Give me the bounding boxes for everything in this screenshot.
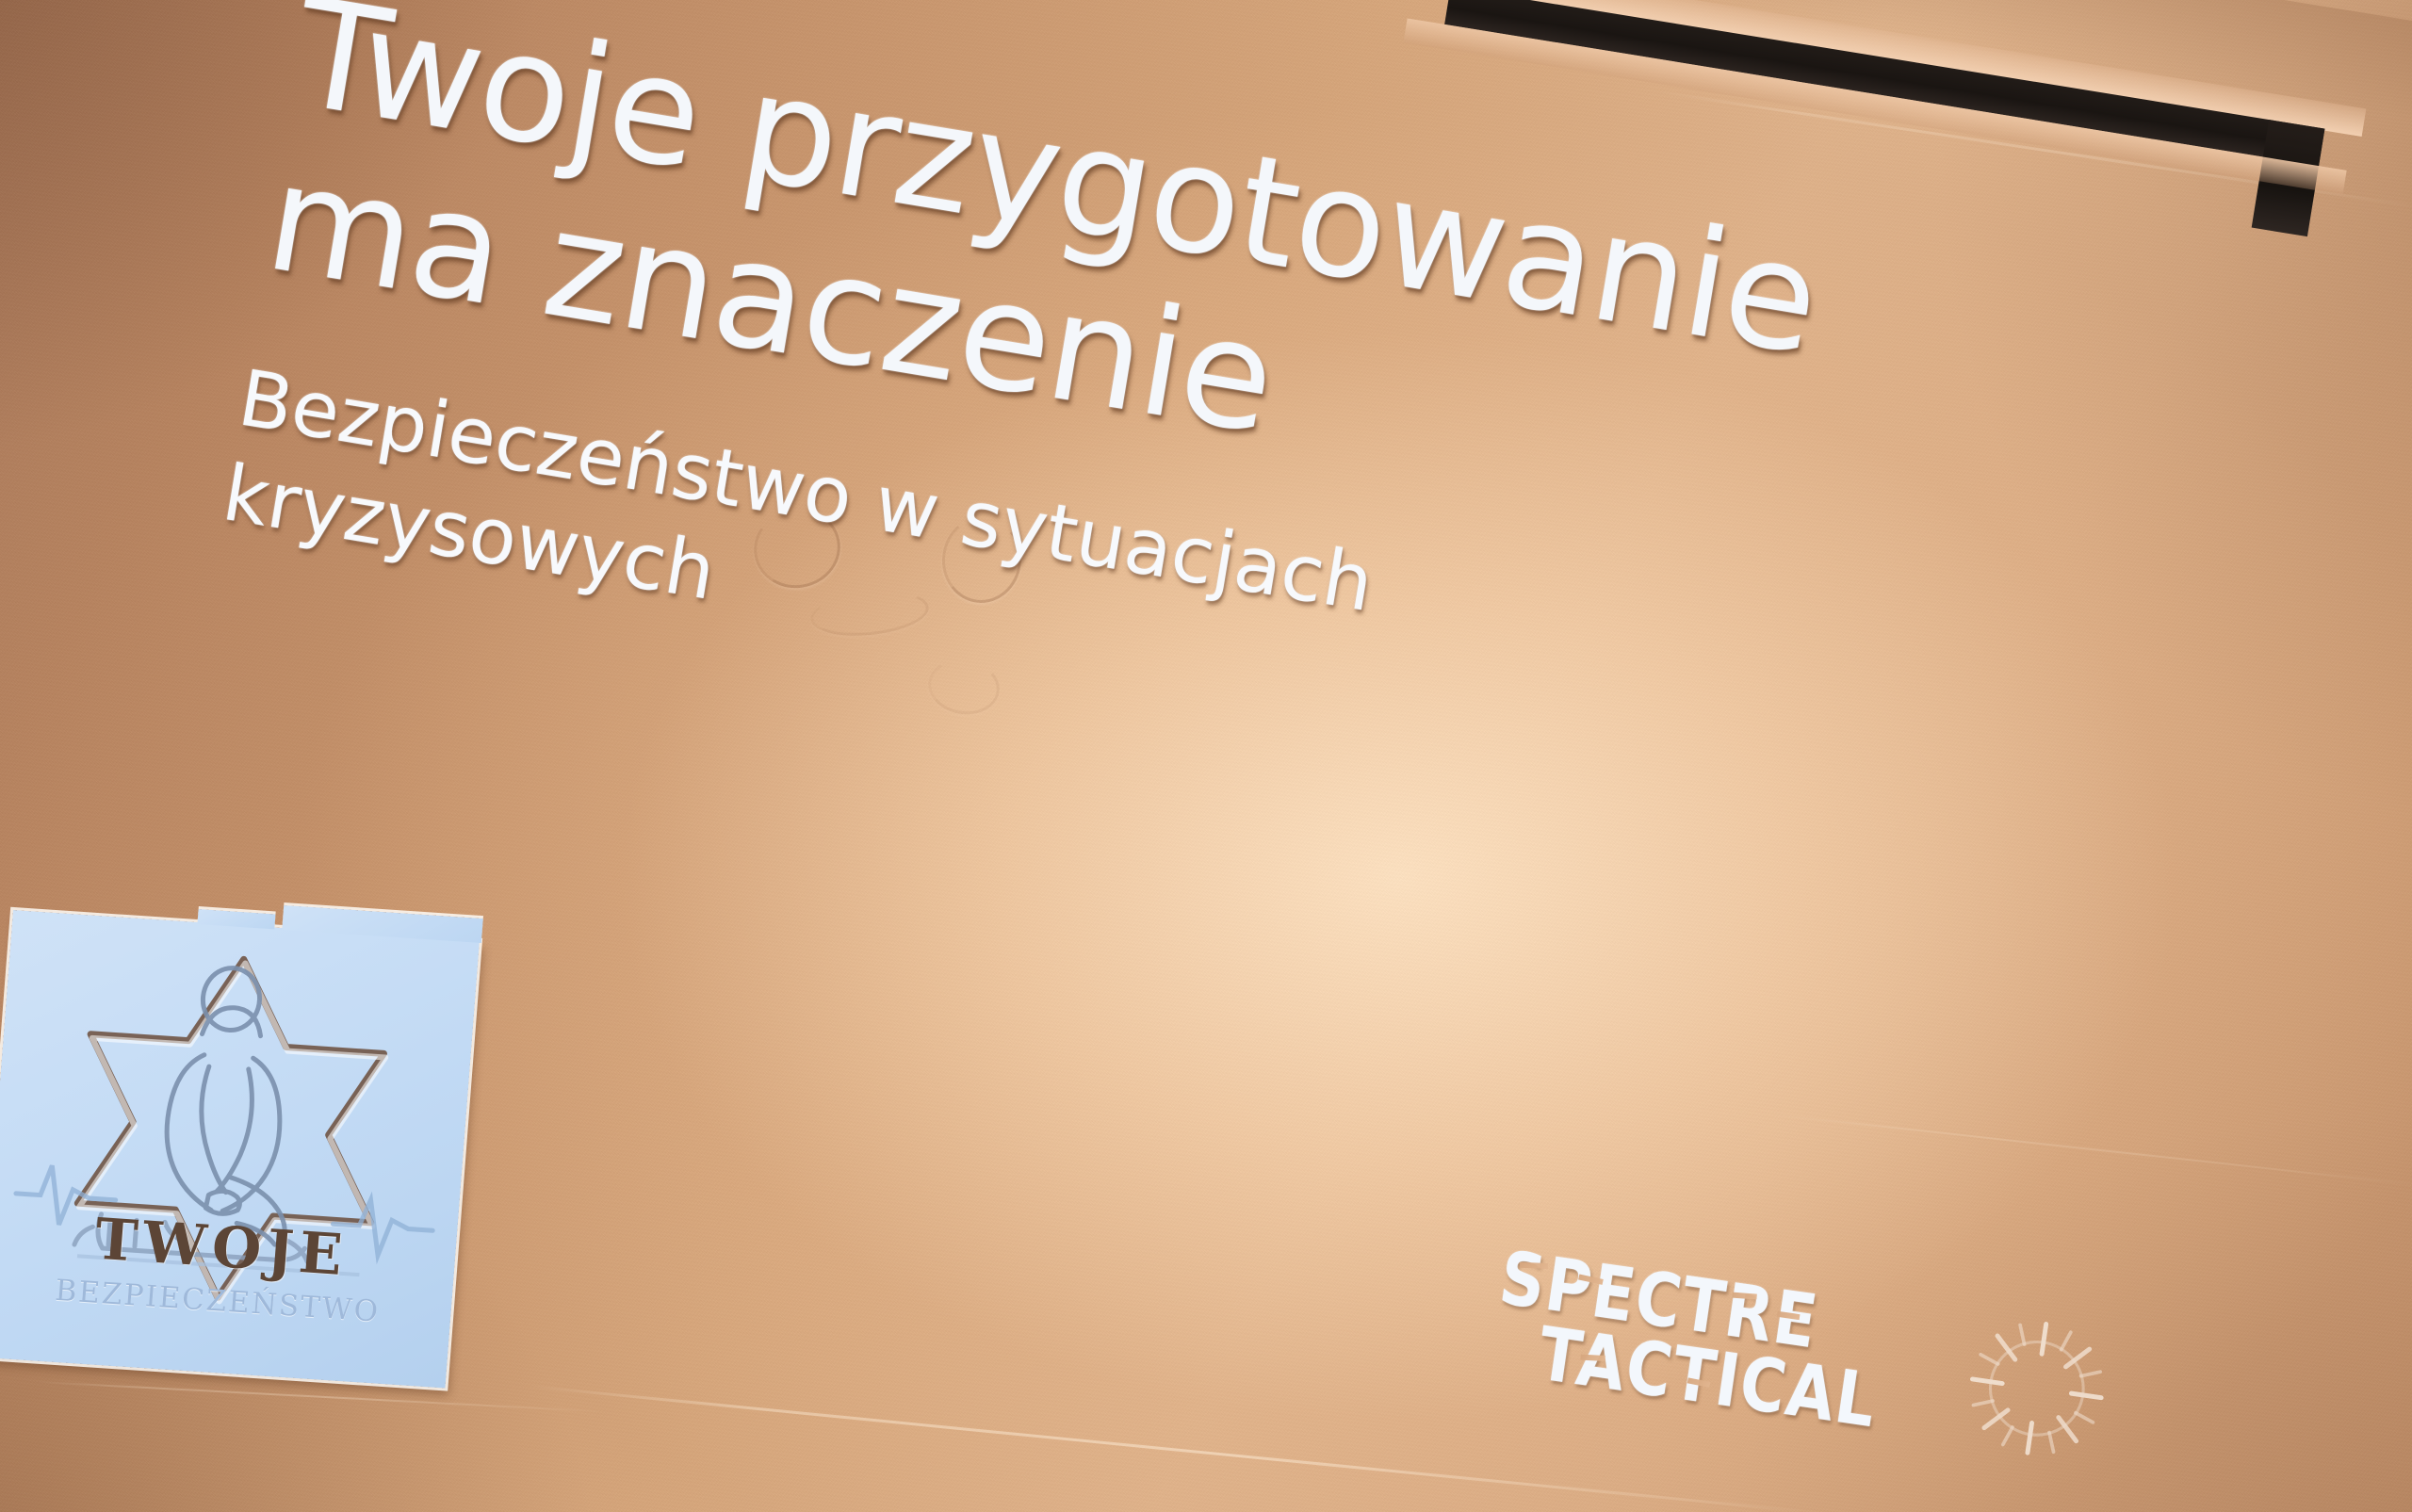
twoje-bezpieczenstwo-logo: TWOJE BEZPIECZEŃSTWO [0, 910, 480, 1388]
projected-slide-photo: Twoje przygotowanie ma znaczenie Bezpiec… [0, 0, 2412, 1512]
compass-rose-icon [1958, 1309, 2116, 1468]
cpr-rescuer-icon [158, 965, 304, 1245]
